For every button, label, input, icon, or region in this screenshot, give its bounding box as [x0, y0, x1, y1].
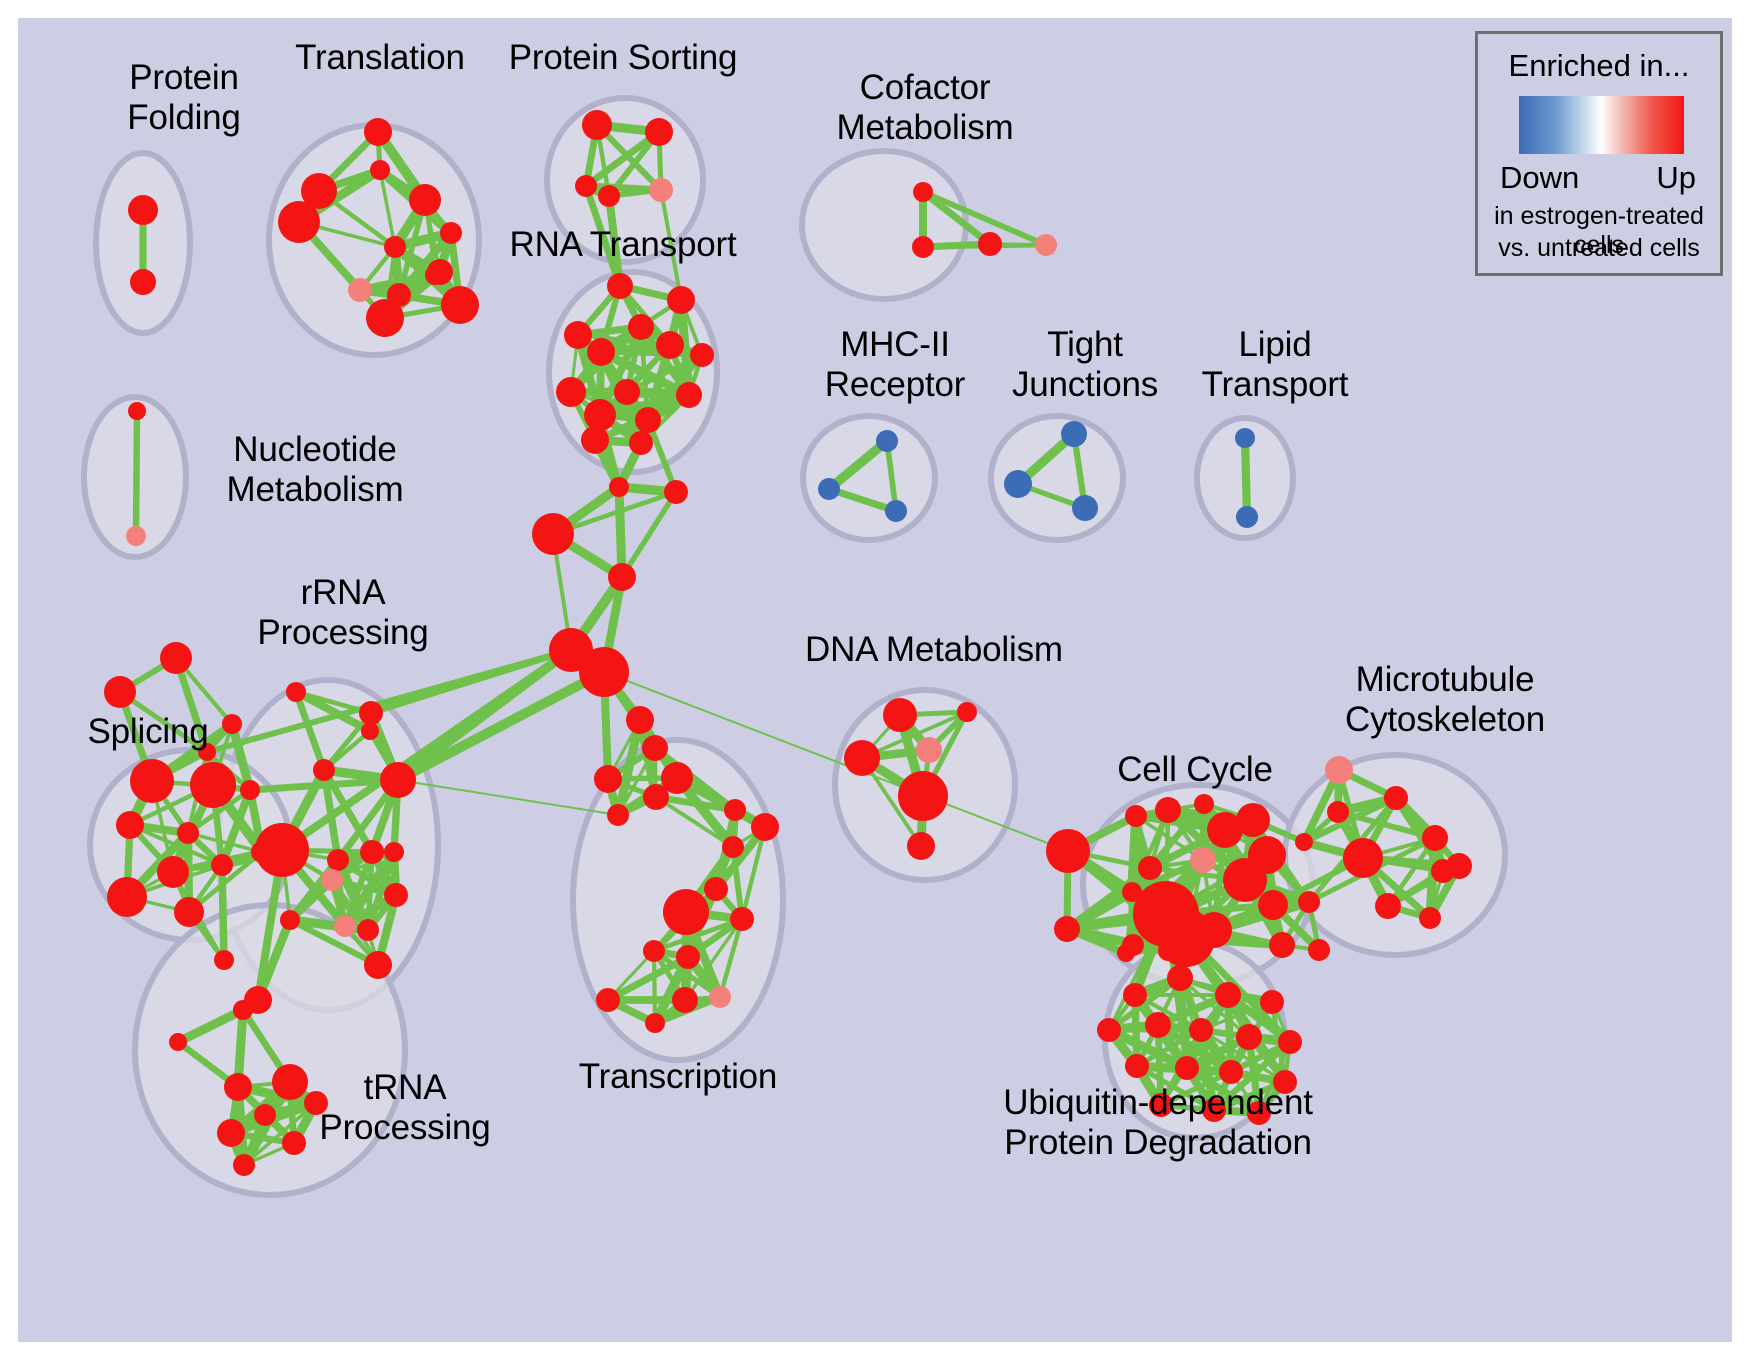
- network-node[interactable]: [1325, 756, 1353, 784]
- network-node[interactable]: [384, 842, 404, 862]
- network-node[interactable]: [1298, 891, 1320, 913]
- network-node[interactable]: [1133, 881, 1199, 947]
- cluster-label-lipid-transport: Lipid Transport: [1175, 325, 1375, 405]
- network-node[interactable]: [278, 201, 320, 243]
- network-node[interactable]: [581, 426, 609, 454]
- network-node[interactable]: [1343, 838, 1383, 878]
- network-node[interactable]: [1196, 912, 1232, 948]
- network-node[interactable]: [384, 236, 406, 258]
- network-figure: Protein FoldingTranslationProtein Sortin…: [0, 0, 1750, 1360]
- network-node[interactable]: [607, 804, 629, 826]
- legend-title: Enriched in...: [1478, 48, 1720, 84]
- network-node[interactable]: [1125, 805, 1147, 827]
- network-node[interactable]: [1054, 916, 1080, 942]
- network-node[interactable]: [327, 849, 349, 871]
- network-node[interactable]: [663, 889, 709, 935]
- network-node[interactable]: [280, 910, 300, 930]
- network-node[interactable]: [1097, 1018, 1121, 1042]
- network-node[interactable]: [656, 331, 684, 359]
- network-node[interactable]: [1215, 982, 1241, 1008]
- legend-down-label: Down: [1500, 160, 1579, 196]
- cluster-label-nucleotide-metabolism: Nucleotide Metabolism: [190, 430, 440, 510]
- network-node[interactable]: [1236, 1024, 1262, 1050]
- network-node[interactable]: [1295, 833, 1313, 851]
- network-node[interactable]: [575, 175, 597, 197]
- network-node[interactable]: [366, 299, 404, 337]
- network-node[interactable]: [635, 407, 661, 433]
- network-node[interactable]: [169, 1033, 187, 1051]
- network-node[interactable]: [1004, 470, 1032, 498]
- network-node[interactable]: [1061, 421, 1087, 447]
- network-node[interactable]: [532, 513, 574, 555]
- network-node[interactable]: [361, 722, 379, 740]
- network-node[interactable]: [584, 399, 616, 431]
- network-node[interactable]: [626, 706, 654, 734]
- network-node[interactable]: [334, 915, 356, 937]
- network-node[interactable]: [190, 762, 236, 808]
- cluster-label-ubiquitin-dependent-protein-degradation: Ubiquitin-dependent Protein Degradation: [993, 1083, 1323, 1163]
- network-node[interactable]: [1235, 428, 1255, 448]
- network-node[interactable]: [598, 185, 620, 207]
- network-node[interactable]: [126, 526, 146, 546]
- network-node[interactable]: [1260, 990, 1284, 1014]
- cluster-label-mhc-ii-receptor: MHC-II Receptor: [795, 325, 995, 405]
- network-node[interactable]: [645, 1013, 665, 1033]
- network-node[interactable]: [157, 856, 189, 888]
- cluster-label-protein-folding: Protein Folding: [84, 58, 284, 138]
- legend-box: Enriched in... Down Up in estrogen-treat…: [1475, 31, 1723, 276]
- network-node[interactable]: [676, 382, 702, 408]
- network-node[interactable]: [608, 563, 636, 591]
- cluster-label-cell-cycle: Cell Cycle: [1095, 750, 1295, 790]
- network-node[interactable]: [885, 500, 907, 522]
- network-node[interactable]: [174, 897, 204, 927]
- network-edge: [1132, 816, 1136, 892]
- network-node[interactable]: [690, 343, 714, 367]
- network-node[interactable]: [370, 160, 390, 180]
- network-node[interactable]: [1125, 1054, 1149, 1078]
- network-node[interactable]: [556, 377, 586, 407]
- network-node[interactable]: [440, 222, 462, 244]
- network-node[interactable]: [883, 698, 917, 732]
- network-node[interactable]: [596, 988, 620, 1012]
- network-node[interactable]: [1072, 495, 1098, 521]
- network-node[interactable]: [1123, 983, 1147, 1007]
- network-node[interactable]: [409, 184, 441, 216]
- network-node[interactable]: [913, 182, 933, 202]
- network-node[interactable]: [724, 799, 746, 821]
- network-node[interactable]: [667, 286, 695, 314]
- network-node[interactable]: [359, 701, 383, 725]
- network-node[interactable]: [240, 780, 260, 800]
- cluster-label-dna-metabolism: DNA Metabolism: [805, 630, 1055, 670]
- network-node[interactable]: [1138, 856, 1162, 880]
- network-node[interactable]: [1175, 1056, 1199, 1080]
- network-node[interactable]: [384, 883, 408, 907]
- network-node[interactable]: [1189, 1018, 1213, 1042]
- network-node[interactable]: [1190, 847, 1216, 873]
- network-node[interactable]: [564, 321, 592, 349]
- network-node[interactable]: [321, 869, 343, 891]
- network-node[interactable]: [128, 402, 146, 420]
- cluster-label-rna-transport: RNA Transport: [508, 225, 738, 265]
- network-node[interactable]: [643, 784, 669, 810]
- cluster-label-splicing: Splicing: [58, 712, 238, 752]
- network-node[interactable]: [441, 286, 479, 324]
- network-node[interactable]: [607, 273, 633, 299]
- network-node[interactable]: [978, 232, 1002, 256]
- network-node[interactable]: [629, 431, 653, 455]
- network-node[interactable]: [876, 430, 898, 452]
- network-node[interactable]: [582, 110, 612, 140]
- network-node[interactable]: [1327, 801, 1349, 823]
- network-node[interactable]: [348, 278, 372, 302]
- cluster-label-trna-processing: tRNA Processing: [300, 1068, 510, 1148]
- cluster-label-translation: Translation: [285, 38, 475, 78]
- network-node[interactable]: [645, 118, 673, 146]
- network-node[interactable]: [1308, 939, 1330, 961]
- network-node[interactable]: [614, 379, 640, 405]
- network-node[interactable]: [1194, 794, 1214, 814]
- network-node[interactable]: [1155, 797, 1181, 823]
- cluster-label-tight-junctions: Tight Junctions: [985, 325, 1185, 405]
- network-node[interactable]: [587, 338, 615, 366]
- legend-subtitle-line-2: vs. untreated cells: [1478, 234, 1720, 263]
- legend-up-label: Up: [1656, 160, 1696, 196]
- cluster-label-rrna-processing: rRNA Processing: [243, 573, 443, 653]
- network-edge: [222, 865, 224, 960]
- network-node[interactable]: [1269, 932, 1295, 958]
- network-node[interactable]: [818, 478, 840, 500]
- network-node[interactable]: [357, 919, 379, 941]
- network-node[interactable]: [1219, 1060, 1243, 1084]
- network-node[interactable]: [177, 822, 199, 844]
- network-node[interactable]: [730, 907, 754, 931]
- network-node[interactable]: [1223, 858, 1267, 902]
- network-node[interactable]: [642, 735, 668, 761]
- network-node[interactable]: [709, 986, 731, 1008]
- network-node[interactable]: [649, 178, 673, 202]
- legend-color-bar: [1519, 96, 1684, 154]
- network-node[interactable]: [1258, 890, 1288, 920]
- cluster-bubble-mhc-ii-receptor: [803, 416, 935, 540]
- network-edge: [136, 411, 137, 536]
- network-node[interactable]: [704, 877, 728, 901]
- network-node[interactable]: [251, 841, 273, 863]
- network-node[interactable]: [1278, 1030, 1302, 1054]
- network-node[interactable]: [360, 840, 384, 864]
- cluster-label-transcription: Transcription: [568, 1057, 788, 1097]
- cluster-bubble-microtubule: [1285, 755, 1505, 955]
- network-node[interactable]: [217, 1119, 245, 1147]
- network-node[interactable]: [130, 269, 156, 295]
- network-node[interactable]: [211, 854, 233, 876]
- network-node[interactable]: [594, 765, 622, 793]
- network-node[interactable]: [1035, 234, 1057, 256]
- network-node[interactable]: [579, 647, 629, 697]
- network-node[interactable]: [609, 477, 629, 497]
- network-node[interactable]: [380, 762, 416, 798]
- network-node[interactable]: [128, 195, 158, 225]
- network-node[interactable]: [254, 1104, 276, 1126]
- network-node[interactable]: [628, 314, 654, 340]
- network-node[interactable]: [1145, 1012, 1171, 1038]
- network-node[interactable]: [1117, 944, 1135, 962]
- network-node[interactable]: [104, 676, 136, 708]
- network-node[interactable]: [672, 987, 698, 1013]
- network-node[interactable]: [1446, 853, 1472, 879]
- cluster-label-cofactor-metabolism: Cofactor Metabolism: [800, 68, 1050, 148]
- network-node[interactable]: [898, 771, 948, 821]
- network-node[interactable]: [844, 740, 880, 776]
- network-node[interactable]: [425, 265, 445, 285]
- network-node[interactable]: [1236, 506, 1258, 528]
- network-node[interactable]: [664, 480, 688, 504]
- network-node[interactable]: [364, 951, 392, 979]
- network-node[interactable]: [313, 759, 335, 781]
- network-node[interactable]: [907, 832, 935, 860]
- network-node[interactable]: [160, 642, 192, 674]
- network-node[interactable]: [916, 737, 942, 763]
- network-node[interactable]: [676, 945, 700, 969]
- network-node[interactable]: [286, 682, 306, 702]
- network-node[interactable]: [1236, 803, 1270, 837]
- network-node[interactable]: [912, 236, 934, 258]
- cluster-label-protein-sorting: Protein Sorting: [508, 38, 738, 78]
- network-node[interactable]: [1046, 829, 1090, 873]
- network-node[interactable]: [116, 811, 144, 839]
- network-node[interactable]: [722, 836, 744, 858]
- network-node[interactable]: [214, 950, 234, 970]
- network-node[interactable]: [751, 813, 779, 841]
- cluster-label-microtubule-cytoskeleton: Microtubule Cytoskeleton: [1300, 660, 1590, 740]
- cluster-bubble-cofactor-metabolism: [802, 151, 966, 299]
- network-node[interactable]: [1375, 893, 1401, 919]
- network-node[interactable]: [233, 1000, 253, 1020]
- network-node[interactable]: [1167, 965, 1193, 991]
- network-node[interactable]: [1422, 825, 1448, 851]
- network-node[interactable]: [233, 1154, 255, 1176]
- network-edge: [1245, 438, 1247, 517]
- network-node[interactable]: [1419, 907, 1441, 929]
- network-node[interactable]: [107, 877, 147, 917]
- network-node[interactable]: [643, 940, 665, 962]
- network-node[interactable]: [130, 759, 174, 803]
- network-node[interactable]: [224, 1073, 252, 1101]
- network-node[interactable]: [1384, 786, 1408, 810]
- network-node[interactable]: [957, 702, 977, 722]
- network-node[interactable]: [364, 118, 392, 146]
